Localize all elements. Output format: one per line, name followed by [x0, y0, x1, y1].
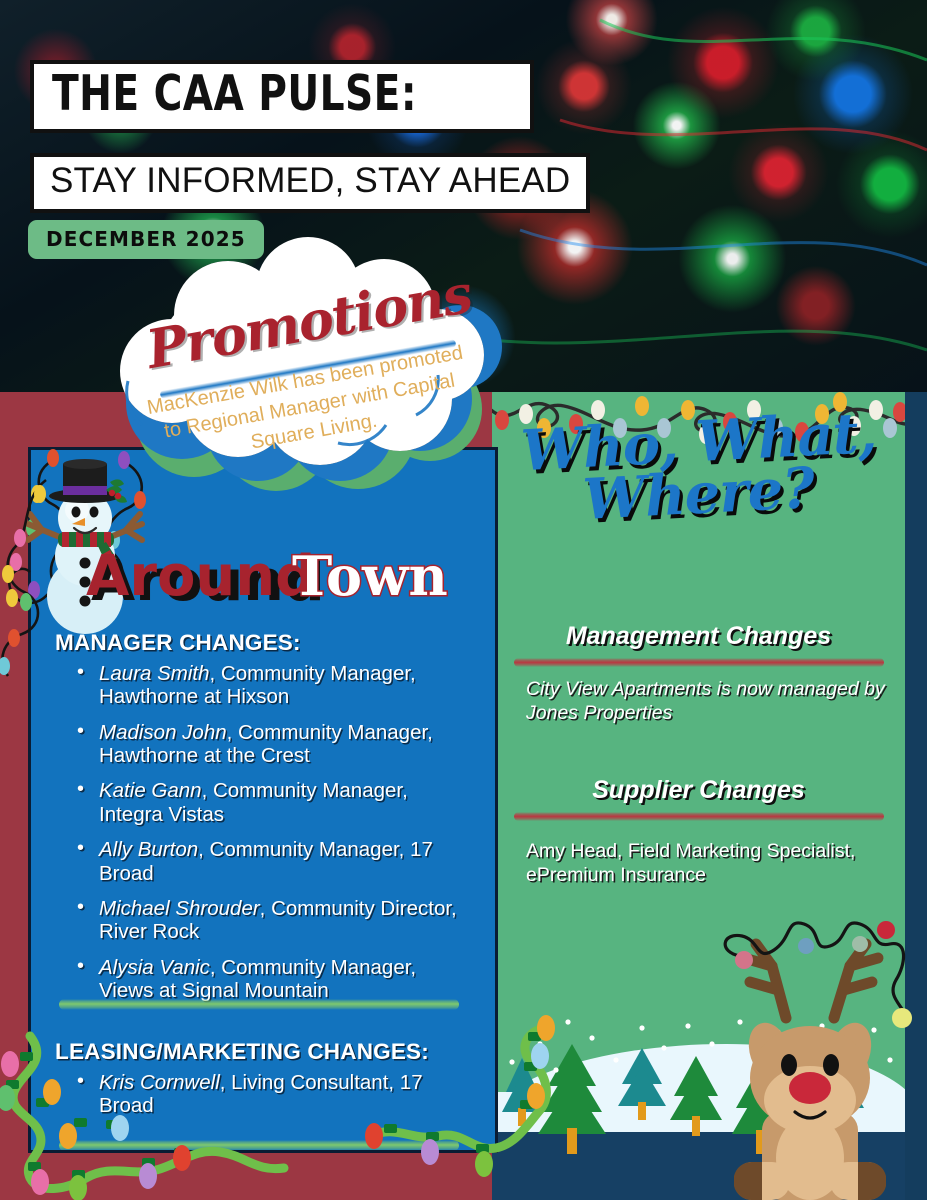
town-text: Town — [292, 544, 448, 608]
list-item: Michael Shrouder, Community Director, Ri… — [75, 897, 475, 944]
list-item: Alysia Vanic, Community Manager, Views a… — [75, 956, 475, 1003]
person-name: Michael Shrouder — [99, 897, 260, 920]
page-subtitle: STAY INFORMED, STAY AHEAD — [50, 162, 570, 201]
person-name: Madison John — [99, 721, 227, 744]
newsletter-title-box: THE CAA PULSE: — [30, 60, 534, 133]
newsletter-subtitle-box: STAY INFORMED, STAY AHEAD — [30, 153, 590, 213]
manager-changes-list: Laura Smith, Community Manager, Hawthorn… — [75, 662, 475, 1014]
person-name: Alysia Vanic — [99, 956, 210, 979]
section-divider-1 — [59, 999, 459, 1010]
supplier-changes-body: Amy Head, Field Marketing Specialist, eP… — [526, 840, 886, 888]
around-town-wordmark: Around Around Town — [84, 540, 464, 612]
person-name: Katie Gann — [99, 779, 202, 802]
snowman-eye — [72, 507, 81, 518]
section-heading-supplier-changes: Supplier Changes — [492, 776, 905, 805]
string-lights-bottom-right — [360, 1040, 560, 1200]
section-rule-management — [514, 658, 884, 667]
list-item: Katie Gann, Community Manager, Integra V… — [75, 779, 475, 826]
section-rule-supplier — [514, 812, 884, 821]
string-lights-icon — [0, 480, 60, 680]
person-name: Ally Burton — [99, 838, 198, 861]
section-heading-management-changes: Management Changes — [492, 622, 905, 651]
who-what-where-title: Who, What, Where? — [492, 414, 905, 523]
reindeer-icon — [700, 900, 920, 1200]
list-item: Madison John, Community Manager, Hawthor… — [75, 721, 475, 768]
list-item: Ally Burton, Community Manager, 17 Broad — [75, 838, 475, 885]
newsletter-page: THE CAA PULSE: STAY INFORMED, STAY AHEAD… — [0, 0, 927, 1200]
promotions-callout: Promotions MacKenzie Wilk has been promo… — [108, 243, 508, 508]
snowman-eye — [90, 507, 99, 518]
management-changes-body: City View Apartments is now managed by J… — [526, 678, 886, 726]
person-name: Laura Smith — [99, 662, 210, 685]
around-text: Around — [86, 544, 315, 609]
page-title: THE CAA PULSE: — [52, 69, 417, 120]
list-item: Laura Smith, Community Manager, Hawthorn… — [75, 662, 475, 709]
